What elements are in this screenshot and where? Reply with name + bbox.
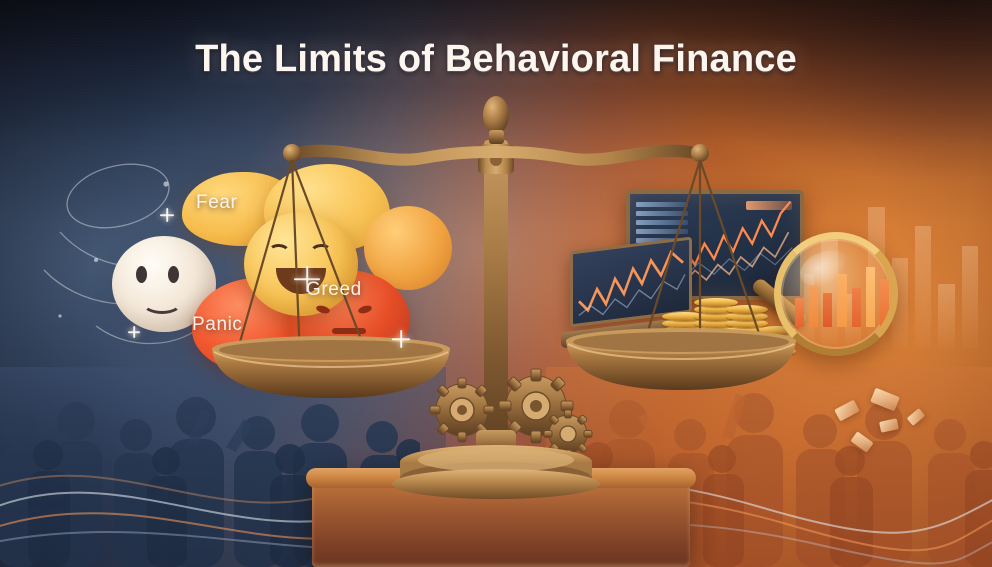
magnifier-lens — [774, 232, 898, 356]
label-greed: Greed — [306, 279, 362, 301]
page-title: The Limits of Behavioral Finance — [0, 38, 992, 81]
data-pan-contents — [566, 180, 946, 390]
label-fear: Fear — [196, 192, 237, 214]
magnifying-glass — [774, 232, 898, 356]
label-panic: Panic — [192, 314, 243, 336]
table-pedestal-edge — [306, 468, 696, 488]
emotion-pan-contents — [96, 150, 466, 390]
illustration-canvas: Fear Greed Panic — [0, 0, 992, 567]
